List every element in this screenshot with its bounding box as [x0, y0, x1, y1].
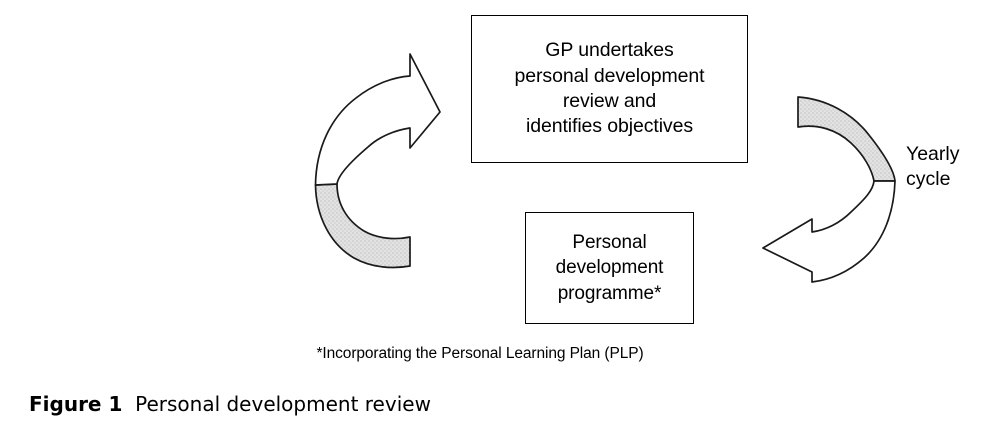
right-arrow-down	[763, 97, 895, 282]
node-box-review-label: GP undertakes personal development revie…	[515, 38, 705, 139]
yearly-cycle-label: Yearly cycle	[906, 142, 990, 193]
right-arrow-tail-shaded	[798, 97, 895, 181]
left-arrow-tail-shaded	[316, 184, 411, 267]
figure-caption-label: Figure 1	[29, 392, 122, 416]
right-arrow-head-open	[763, 181, 895, 282]
node-box-review: GP undertakes personal development revie…	[471, 15, 748, 163]
left-arrow-head-open	[316, 54, 441, 185]
figure-caption: Figure 1 Personal development review	[29, 392, 431, 416]
figure-caption-text	[122, 392, 135, 416]
left-arrow-up	[316, 54, 441, 267]
footnote-text: *Incorporating the Personal Learning Pla…	[0, 345, 960, 363]
node-box-programme-label: Personal development programme*	[556, 230, 664, 306]
node-box-programme: Personal development programme*	[525, 212, 694, 324]
figure-caption-title: Personal development review	[135, 392, 431, 416]
